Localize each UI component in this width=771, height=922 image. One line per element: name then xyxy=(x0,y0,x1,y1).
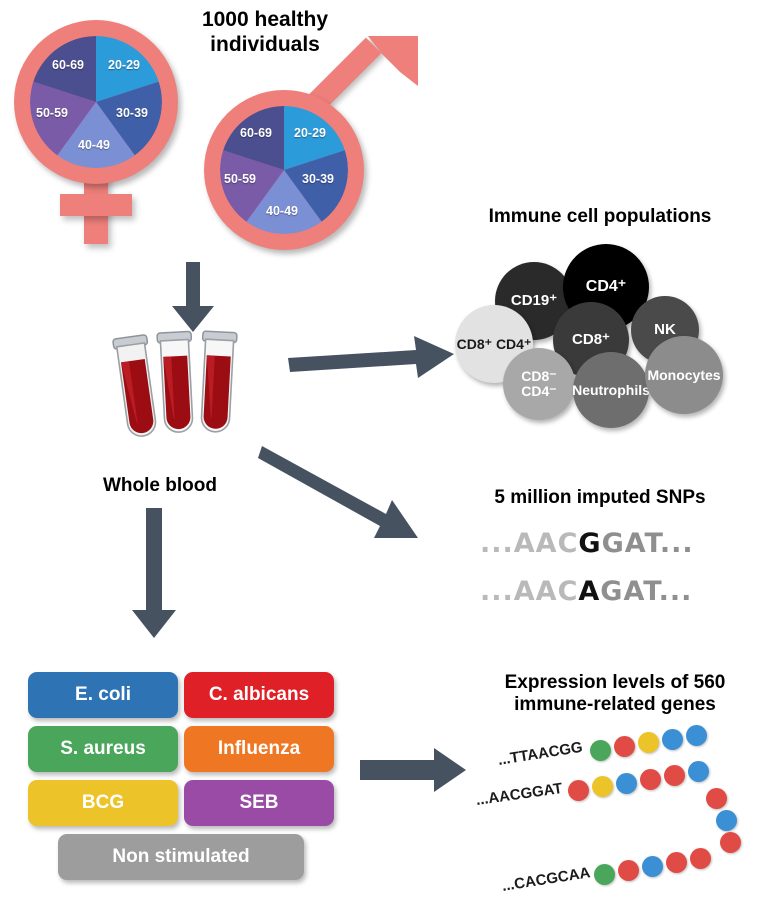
stimulus-label-influenza: Influenza xyxy=(218,738,300,760)
gene-bead-3-2 xyxy=(618,860,639,881)
arrow-blood-to-snp xyxy=(258,440,438,550)
gene-bead-3-4 xyxy=(666,852,687,873)
immune-cell-label-cd8-cd4-dp: CD8⁺ CD4⁺ xyxy=(457,337,532,352)
stimuli-grid: E. coli C. albicans S. aureus Influenza … xyxy=(28,672,338,892)
female-age-label-60-69: 60-69 xyxy=(52,58,84,72)
stimulus-seb[interactable]: SEB xyxy=(184,780,334,826)
immune-cell-cd8-cd4-dn: CD8⁻ CD4⁻ xyxy=(503,348,575,420)
stimulus-e-coli[interactable]: E. coli xyxy=(28,672,178,718)
male-age-label-20-29: 20-29 xyxy=(294,126,326,140)
snp-line1-suffix: GAT... xyxy=(602,528,694,559)
female-age-label-40-49: 40-49 xyxy=(78,138,110,152)
gene-bead-link-2 xyxy=(716,810,737,831)
gene-sequence-2: ...AACGGAT xyxy=(475,780,564,809)
section-title-immune-cells: Immune cell populations xyxy=(440,206,760,228)
gene-bead-2-3 xyxy=(616,773,637,794)
section-title-expression: Expression levels of 560 immune-related … xyxy=(470,672,760,717)
female-age-label-20-29: 20-29 xyxy=(108,58,140,72)
gene-bead-1-1 xyxy=(590,740,611,761)
immune-cell-label-cd8-cd4-dn: CD8⁻ CD4⁻ xyxy=(503,369,575,398)
gene-bead-3-3 xyxy=(642,856,663,877)
blood-tubes-svg xyxy=(100,330,260,460)
gene-sequence-1: ...TTAACGG xyxy=(497,739,584,769)
gene-bead-1-3 xyxy=(638,732,659,753)
stimulus-s-aureus[interactable]: S. aureus xyxy=(28,726,178,772)
stimulus-non-stimulated[interactable]: Non stimulated xyxy=(58,834,304,880)
snp-line2-variant: A xyxy=(578,576,600,607)
gene-bead-link-3 xyxy=(720,832,741,853)
stimulus-label-non-stimulated: Non stimulated xyxy=(112,846,249,868)
gene-bead-2-5 xyxy=(664,765,685,786)
female-age-label-50-59: 50-59 xyxy=(36,106,68,120)
arrow-cohort-to-blood xyxy=(168,262,218,334)
arrow-blood-to-stimuli xyxy=(130,508,180,640)
gene-bead-3-1 xyxy=(594,864,615,885)
section-title-snps: 5 million imputed SNPs xyxy=(440,487,760,509)
immune-cell-label-cd19: CD19⁺ xyxy=(511,293,557,309)
stimulus-label-e-coli: E. coli xyxy=(75,684,131,706)
gene-bead-2-4 xyxy=(640,769,661,790)
snp-line1-prefix: ...AAC xyxy=(480,528,578,559)
immune-cell-label-cd4: CD4⁺ xyxy=(586,279,626,296)
snp-line2-prefix: ...AAC xyxy=(480,576,578,607)
gene-bead-2-6 xyxy=(688,761,709,782)
gene-bead-2-1 xyxy=(568,780,589,801)
arrow-blood-to-immune xyxy=(288,320,458,380)
snp-sequences: ...AACGGAT... ...AACAGAT... xyxy=(470,528,760,628)
stimulus-label-bcg: BCG xyxy=(82,792,124,814)
gene-bead-1-4 xyxy=(662,729,683,750)
immune-cell-label-monocytes: Monocytes xyxy=(647,368,720,383)
gene-bead-1-5 xyxy=(686,725,707,746)
female-symbol: 20-29 30-39 40-49 50-59 60-69 xyxy=(8,12,188,247)
snp-line2-suffix: GAT... xyxy=(600,576,692,607)
stimulus-label-c-albicans: C. albicans xyxy=(209,684,309,706)
male-age-label-30-39: 30-39 xyxy=(302,172,334,186)
stimulus-label-s-aureus: S. aureus xyxy=(60,738,146,760)
label-whole-blood: Whole blood xyxy=(55,475,265,497)
male-age-label-50-59: 50-59 xyxy=(224,172,256,186)
snp-sequence-line-2: ...AACAGAT... xyxy=(480,576,692,607)
stimulus-bcg[interactable]: BCG xyxy=(28,780,178,826)
stimulus-c-albicans[interactable]: C. albicans xyxy=(184,672,334,718)
immune-cell-neutrophils: Neutrophils xyxy=(573,352,649,428)
gene-bead-2-2 xyxy=(592,776,613,797)
arrow-stimuli-to-expression xyxy=(360,748,470,794)
gene-expression-strands: ...TTAACGG ...AACGGAT ...CACGCAA xyxy=(468,718,768,908)
blood-tubes xyxy=(100,330,260,465)
gene-bead-3-5 xyxy=(690,848,711,869)
male-age-label-60-69: 60-69 xyxy=(240,126,272,140)
immune-cell-label-cd8: CD8⁺ xyxy=(572,332,610,348)
male-symbol: 20-29 30-39 40-49 50-59 60-69 xyxy=(190,40,420,255)
stimulus-label-seb: SEB xyxy=(239,792,278,814)
female-age-label-30-39: 30-39 xyxy=(116,106,148,120)
male-arrow-head xyxy=(352,32,422,104)
snp-line1-variant: G xyxy=(578,528,601,559)
immune-cell-monocytes: Monocytes xyxy=(645,336,723,414)
immune-cell-label-nk: NK xyxy=(654,322,676,338)
male-age-label-40-49: 40-49 xyxy=(266,204,298,218)
gene-bead-link-1 xyxy=(706,788,727,809)
female-stem-horizontal xyxy=(60,194,132,216)
snp-sequence-line-1: ...AACGGAT... xyxy=(480,528,694,559)
immune-cell-label-neutrophils: Neutrophils xyxy=(572,383,650,398)
gene-bead-1-2 xyxy=(614,736,635,757)
gene-sequence-3: ...CACGCAA xyxy=(501,864,592,895)
stimulus-influenza[interactable]: Influenza xyxy=(184,726,334,772)
immune-cell-cluster: CD19⁺ CD4⁺ CD8⁺ CD4⁺ CD8⁺ NK CD8⁻ CD4⁻ N… xyxy=(455,240,755,415)
